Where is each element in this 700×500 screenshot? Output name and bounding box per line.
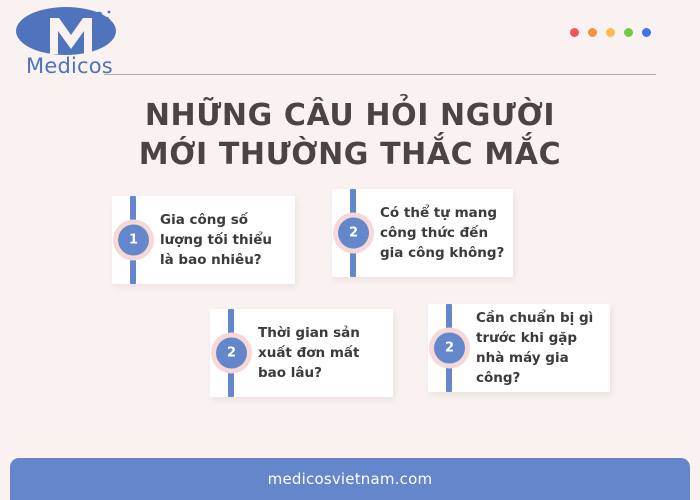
page-title: NHỮNG CÂU HỎI NGƯỜI MỚI THƯỜNG THẮC MẮC	[0, 96, 700, 174]
card-question-text: Gia công số lượng tối thiểu là bao nhiêu…	[160, 210, 287, 270]
card-question-text: Thời gian sản xuất đơn mất bao lâu?	[258, 323, 385, 383]
medicos-m-logo-icon	[14, 6, 122, 56]
faq-card-1[interactable]: 1 Gia công số lượng tối thiểu là bao nhi…	[112, 196, 295, 284]
footer-bar: medicosvietnam.com	[10, 458, 690, 500]
brand-name: Medicos	[26, 54, 113, 78]
faq-card-4[interactable]: 2 Cần chuẩn bị gì trước khi gặp nhà máy …	[428, 304, 610, 392]
card-number-badge: 2	[338, 218, 369, 249]
header-divider	[104, 74, 656, 75]
dot-amber-icon	[606, 28, 615, 37]
card-number-badge: 1	[118, 225, 149, 256]
faq-card-3[interactable]: 2 Thời gian sản xuất đơn mất bao lâu?	[210, 309, 393, 397]
page-title-line-2: MỚI THƯỜNG THẮC MẮC	[0, 135, 700, 174]
footer-website-link[interactable]: medicosvietnam.com	[268, 470, 433, 488]
brand-logo: Medicos	[14, 6, 124, 78]
dot-orange-icon	[588, 28, 597, 37]
card-question-text: Có thể tự mang công thức đến gia công kh…	[380, 203, 505, 263]
card-number-badge: 2	[216, 338, 247, 369]
dot-blue-icon	[642, 28, 651, 37]
card-question-text: Cần chuẩn bị gì trước khi gặp nhà máy gi…	[476, 308, 602, 388]
faq-card-2[interactable]: 2 Có thể tự mang công thức đến gia công …	[332, 189, 513, 277]
color-dots	[570, 28, 651, 37]
page-title-line-1: NHỮNG CÂU HỎI NGƯỜI	[0, 96, 700, 135]
card-number-badge: 2	[434, 333, 465, 364]
dot-red-icon	[570, 28, 579, 37]
header: Medicos	[0, 0, 700, 80]
dot-green-icon	[624, 28, 633, 37]
infographic-page: Medicos NHỮNG CÂU HỎI NGƯỜI MỚI THƯỜNG T…	[0, 0, 700, 500]
